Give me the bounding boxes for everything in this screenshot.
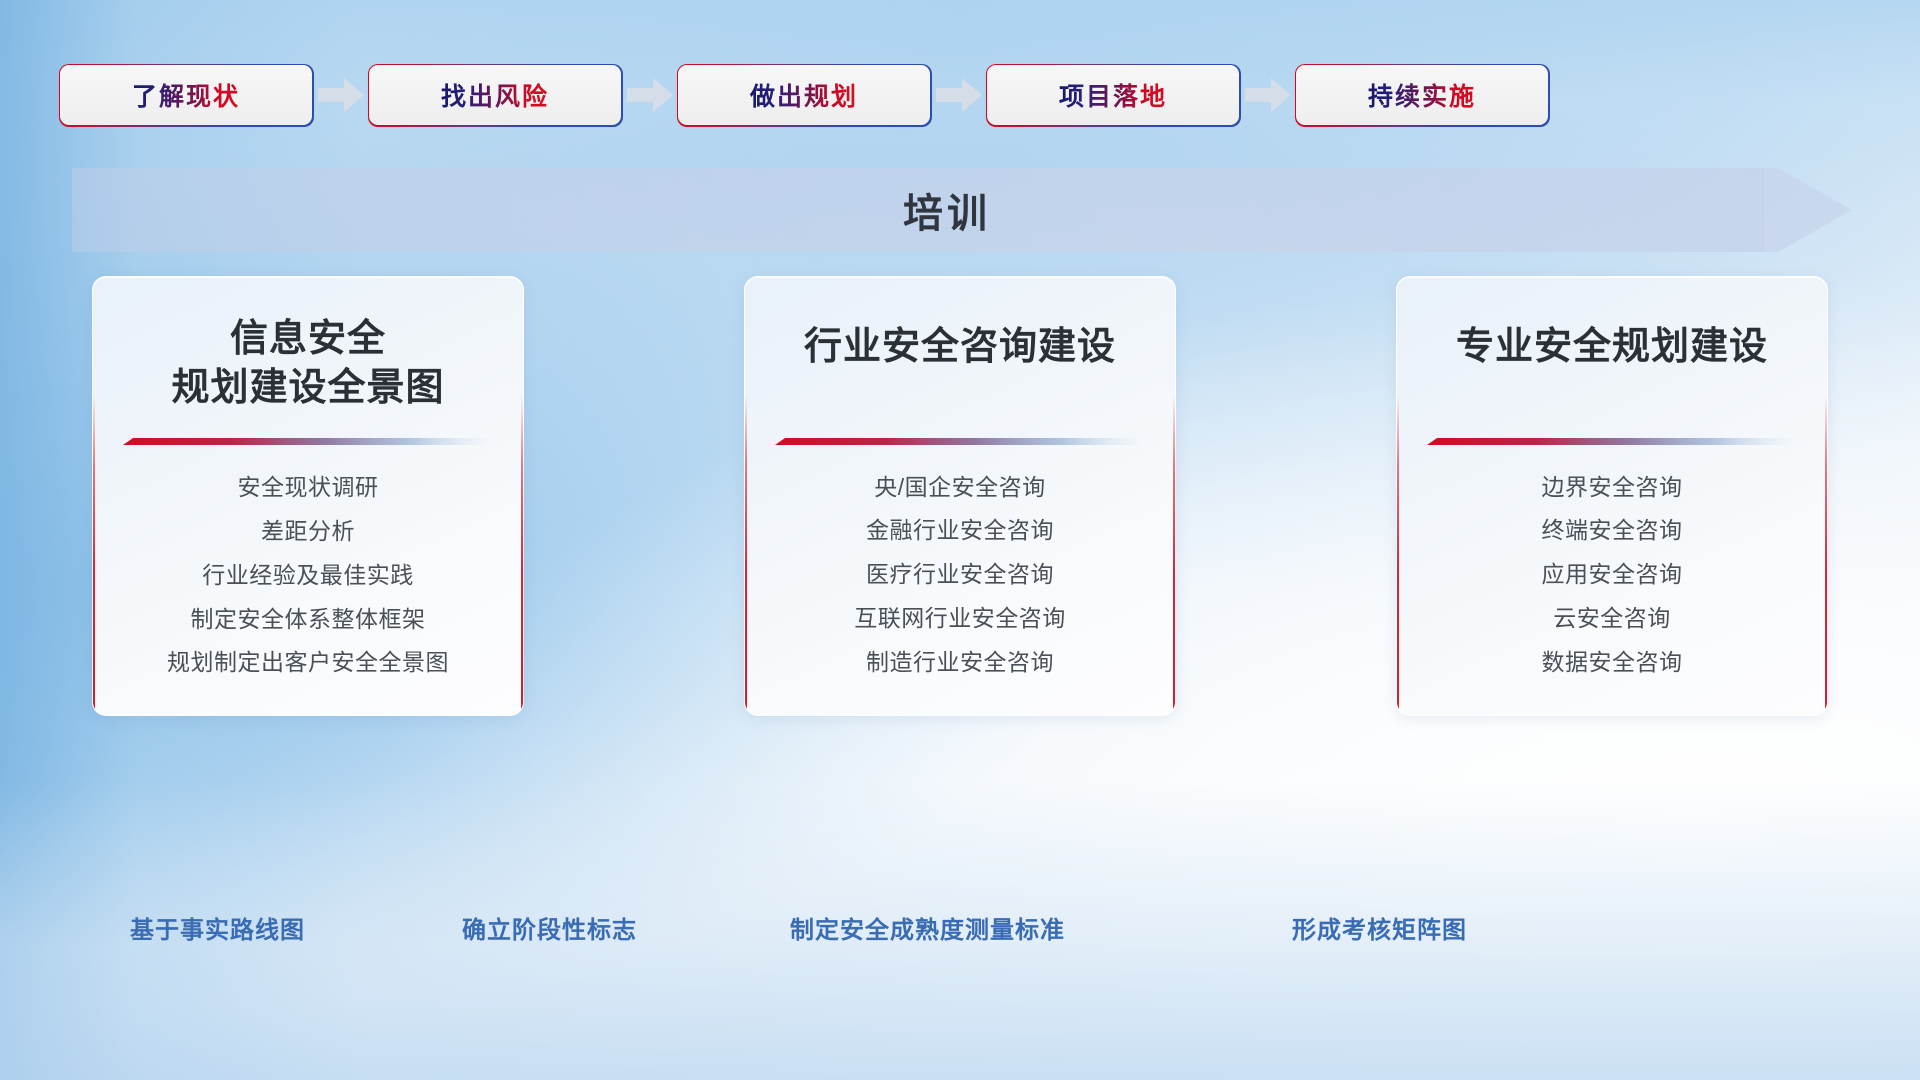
process-step-label: 持续实施: [1368, 77, 1476, 113]
card-divider: [775, 438, 1145, 447]
card-professional-security-planning[interactable]: 专业安全规划建设 边界安全咨询 终端安全咨询 应用安全咨询: [1396, 276, 1828, 716]
training-banner: 培训: [72, 168, 1852, 252]
process-step-strip: 了解现状 找出风险 做出规划 项目落地 持续实施: [60, 64, 1860, 126]
card-title: 行业安全咨询建设: [786, 323, 1134, 372]
list-item: 制定安全体系整体框架: [191, 605, 426, 634]
bottom-labels-row: 基于事实路线图 确立阶段性标志 制定安全成熟度测量标准 形成考核矩阵图: [0, 910, 1920, 960]
card-title-line: 信息安全: [171, 315, 444, 364]
card-divider: [1427, 438, 1797, 447]
card-item-list: 安全现状调研 差距分析 行业经验及最佳实践 制定安全体系整体框架 规划制定出客户…: [93, 473, 523, 677]
card-title-line: 专业安全规划建设: [1456, 323, 1768, 372]
list-item: 行业经验及最佳实践: [202, 561, 414, 590]
card-divider: [123, 438, 493, 447]
card-item-list: 央/国企安全咨询 金融行业安全咨询 医疗行业安全咨询 互联网行业安全咨询 制造行…: [745, 473, 1175, 677]
card-right-red-edge: [1825, 395, 1827, 715]
bottom-label-matrix: 形成考核矩阵图: [1292, 910, 1467, 945]
process-step-label: 做出规划: [750, 77, 858, 113]
chevron-right-arrow-icon: [1239, 65, 1296, 125]
bottom-label-roadmap: 基于事实路线图: [130, 910, 305, 945]
card-right-red-edge: [521, 395, 523, 715]
list-item: 金融行业安全咨询: [866, 516, 1054, 545]
chevron-right-arrow-icon: [930, 65, 987, 125]
process-step-label: 找出风险: [441, 77, 549, 113]
list-item: 数据安全咨询: [1542, 648, 1683, 677]
list-item: 安全现状调研: [238, 473, 379, 502]
card-title-line: 规划建设全景图: [171, 364, 444, 413]
process-step-4[interactable]: 项目落地: [987, 65, 1239, 125]
process-step-label: 了解现状: [132, 77, 240, 113]
list-item: 终端安全咨询: [1542, 516, 1683, 545]
list-item: 差距分析: [261, 517, 355, 546]
process-step-label: 项目落地: [1059, 77, 1167, 113]
list-item: 云安全咨询: [1553, 604, 1671, 633]
card-left-red-edge: [93, 395, 95, 715]
card-item-list: 边界安全咨询 终端安全咨询 应用安全咨询 云安全咨询 数据安全咨询: [1397, 473, 1827, 677]
card-right-red-edge: [1173, 395, 1175, 715]
card-title-line: 行业安全咨询建设: [804, 323, 1116, 372]
cards-row: 信息安全 规划建设全景图 安全现状调研 差距分析 行业经: [92, 276, 1828, 716]
list-item: 央/国企安全咨询: [874, 473, 1045, 502]
bottom-label-maturity: 制定安全成熟度测量标准: [790, 910, 1065, 945]
chevron-right-arrow-icon: [312, 65, 369, 125]
card-title: 信息安全 规划建设全景图: [153, 315, 462, 412]
card-information-security-panorama[interactable]: 信息安全 规划建设全景图 安全现状调研 差距分析 行业经: [92, 276, 524, 716]
card-industry-security-consulting[interactable]: 行业安全咨询建设 央/国企安全咨询 金融行业安全咨询 医疗行业安全咨: [744, 276, 1176, 716]
process-step-1[interactable]: 了解现状: [60, 65, 312, 125]
chevron-right-arrow-icon: [621, 65, 678, 125]
card-left-red-edge: [1397, 395, 1399, 715]
process-step-2[interactable]: 找出风险: [369, 65, 621, 125]
bottom-label-milestone: 确立阶段性标志: [462, 910, 637, 945]
list-item: 应用安全咨询: [1542, 560, 1683, 589]
process-step-3[interactable]: 做出规划: [678, 65, 930, 125]
banner-title: 培训: [72, 168, 1852, 252]
list-item: 规划制定出客户安全全景图: [167, 648, 449, 677]
list-item: 制造行业安全咨询: [866, 648, 1054, 677]
list-item: 互联网行业安全咨询: [854, 604, 1066, 633]
card-left-red-edge: [745, 395, 747, 715]
card-title: 专业安全规划建设: [1438, 323, 1786, 372]
list-item: 边界安全咨询: [1542, 473, 1683, 502]
process-step-5[interactable]: 持续实施: [1296, 65, 1548, 125]
list-item: 医疗行业安全咨询: [866, 560, 1054, 589]
